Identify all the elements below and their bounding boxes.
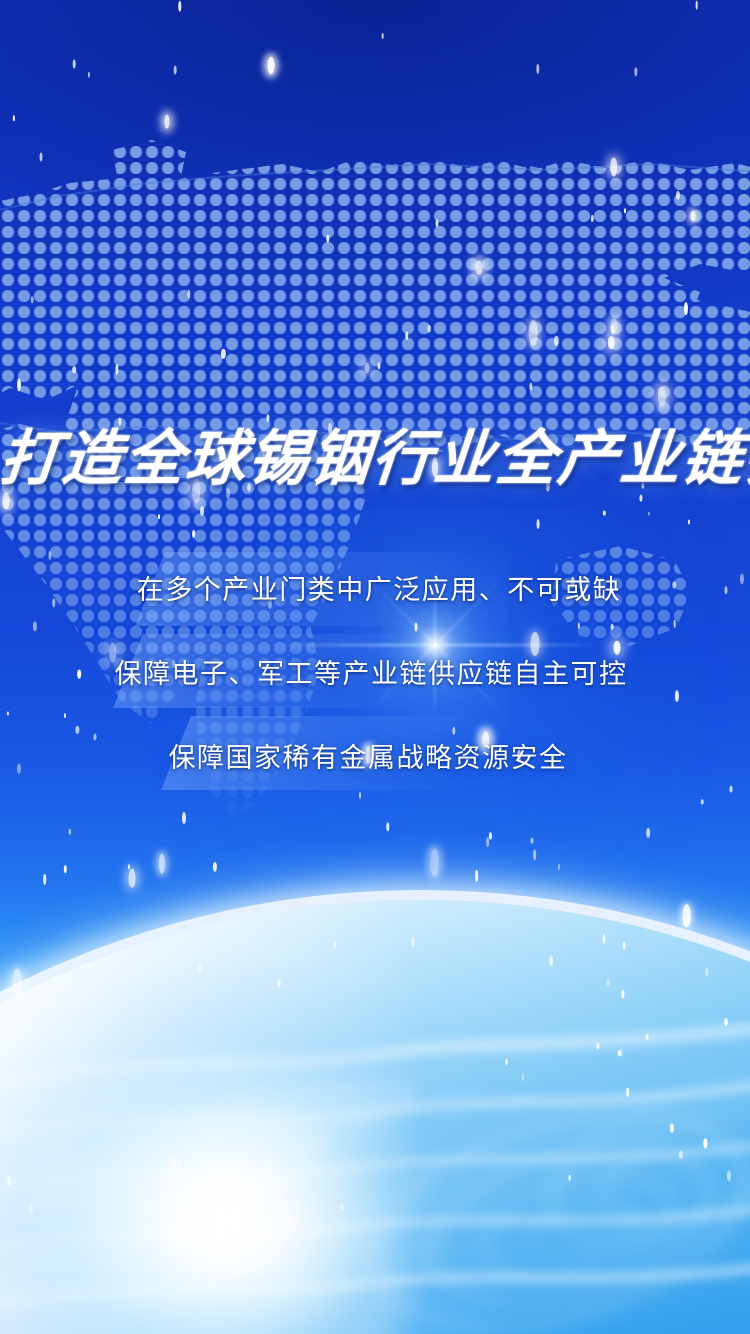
page-title: 打造全球锡铟行业全产业链链主	[0, 415, 750, 503]
sparkle-particle	[610, 158, 618, 177]
sparkle-particle	[31, 296, 34, 304]
sparkle-particle	[676, 191, 680, 199]
sparkle-particle	[39, 152, 42, 161]
sparkle-particle	[701, 799, 704, 804]
sparkle-particle	[611, 326, 614, 335]
sparkle-particle	[606, 979, 610, 987]
sparkle-particle	[178, 1, 181, 12]
sparkle-particle	[29, 1204, 33, 1214]
sparkle-particle	[174, 66, 177, 75]
sparkle-particle	[427, 324, 431, 332]
sparkle-particle	[622, 941, 625, 950]
sparkle-particle	[602, 933, 605, 943]
sparkle-particle	[365, 363, 370, 374]
sparkle-particle	[647, 511, 649, 516]
sparkle-particle	[679, 1150, 683, 1159]
sparkle-particle	[334, 941, 336, 948]
sparkle-particle	[489, 833, 491, 840]
sparkle-particle	[7, 1176, 11, 1186]
subtitle-line-3: 保障国家稀有金属战略资源安全	[0, 713, 750, 797]
sparkle-particle	[706, 968, 709, 977]
sparkle-particle	[405, 331, 409, 341]
sparkle-particle	[200, 506, 204, 516]
sparkle-particle	[73, 366, 77, 374]
sparkle-particle	[591, 215, 593, 223]
subtitle-text-1: 在多个产业门类中广泛应用、不可或缺	[137, 568, 622, 607]
sparkle-particle	[505, 1059, 508, 1065]
sparkle-particle	[549, 955, 553, 966]
subtitle-text-3: 保障国家稀有金属战略资源安全	[169, 736, 568, 775]
sparkle-particle	[182, 812, 186, 824]
sparkle-particle	[115, 364, 118, 375]
sparkle-particle	[646, 1034, 649, 1041]
sparkle-particle	[171, 1158, 179, 1180]
sparkle-particle	[690, 210, 695, 221]
sparkle-particle	[198, 962, 202, 973]
sparkle-particle	[435, 219, 438, 226]
subtitle-line-2: 保障电子、军工等产业链供应链自主可控	[0, 629, 750, 713]
sparkle-particle	[670, 1123, 674, 1133]
sparkle-particle	[536, 64, 539, 74]
subtitle-text-2: 保障电子、军工等产业链供应链自主可控	[115, 652, 628, 691]
sparkle-particle	[187, 289, 190, 298]
sparkle-particle	[247, 1185, 250, 1193]
sparkle-particle	[88, 71, 90, 78]
sparkle-particle	[192, 530, 196, 538]
sparkle-particle	[129, 869, 136, 888]
sparkle-particle	[529, 382, 532, 391]
sparkle-particle	[12, 115, 14, 121]
sparkle-particle	[159, 853, 165, 874]
subtitle-line-1: 在多个产业门类中广泛应用、不可或缺	[0, 545, 750, 629]
sparkle-particle	[596, 1042, 599, 1049]
sparkle-particle	[430, 849, 439, 876]
sparkle-particle	[386, 822, 389, 831]
sparkle-particle	[381, 33, 384, 39]
sparkle-particle	[221, 349, 225, 359]
sparkle-particle	[165, 114, 170, 129]
sparkle-particle	[17, 378, 21, 392]
sparkle-particle	[411, 937, 415, 948]
sparkle-particle	[682, 904, 691, 927]
sparkle-particle	[619, 1048, 622, 1056]
subtitle-group: 在多个产业门类中广泛应用、不可或缺 保障电子、军工等产业链供应链自主可控 保障国…	[0, 545, 750, 797]
sparkle-particle	[704, 1138, 707, 1148]
sparkle-particle	[724, 1018, 728, 1026]
sparkle-particle	[213, 862, 217, 872]
sparkle-particle	[326, 234, 329, 243]
sparkle-particle	[608, 336, 614, 350]
sparkle-particle	[695, 1, 698, 10]
sparkle-particle	[568, 1174, 571, 1180]
sparkle-particle	[278, 979, 281, 988]
sparkle-particle	[558, 863, 560, 870]
sparkle-particle	[377, 362, 380, 369]
sparkle-particle	[533, 849, 537, 860]
sparkle-particle	[12, 969, 21, 998]
sparkle-particle	[624, 208, 626, 214]
sparkle-particle	[475, 870, 479, 882]
sparkle-particle	[268, 57, 275, 75]
sparkle-particle	[688, 520, 690, 525]
sparkle-particle	[621, 990, 624, 999]
sparkle-particle	[530, 837, 533, 843]
sparkle-particle	[68, 829, 71, 836]
sparkle-particle	[727, 1171, 731, 1182]
poster-canvas: 打造全球锡铟行业全产业链链主 在多个产业门类中广泛应用、不可或缺 保障电子、军工…	[0, 0, 750, 1334]
sparkle-particle	[536, 519, 539, 529]
sparkle-particle	[287, 1211, 294, 1225]
sparkle-particle	[554, 335, 558, 345]
sparkle-particle	[684, 302, 688, 316]
sparkle-particle	[626, 1088, 630, 1096]
sparkle-particle	[43, 874, 47, 884]
sparkle-particle	[341, 1203, 344, 1211]
sparkle-particle	[73, 59, 76, 68]
sparkle-particle	[529, 320, 538, 346]
sparkle-particle	[158, 514, 160, 519]
sparkle-particle	[603, 511, 605, 516]
sparkle-particle	[658, 387, 666, 408]
sparkle-particle	[634, 67, 637, 76]
sparkle-particle	[64, 865, 66, 873]
sparkle-particle	[646, 828, 650, 838]
sparkle-particle	[475, 261, 482, 275]
sparkle-particle	[521, 1073, 524, 1081]
